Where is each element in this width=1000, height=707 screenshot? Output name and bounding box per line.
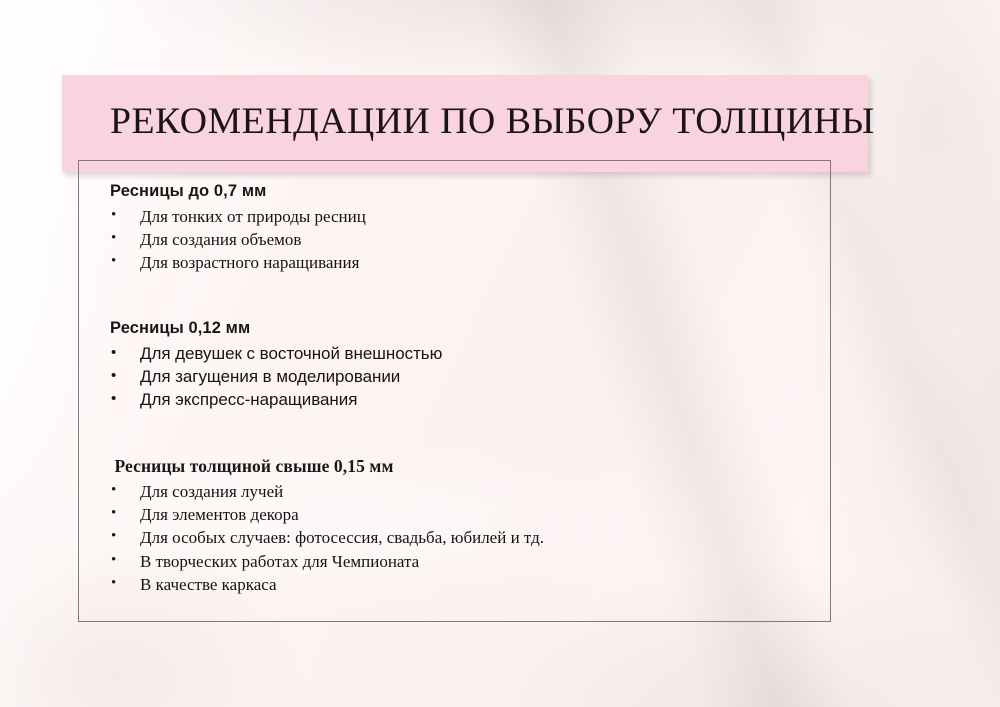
list-item: Для создания объемов (78, 228, 831, 251)
list-item: Для создания лучей (78, 480, 831, 503)
section-lashes-over-015: Ресницы толщиной свыше 0,15 мм Для созда… (78, 455, 831, 596)
slide-title: РЕКОМЕНДАЦИИ ПО ВЫБОРУ ТОЛЩИНЫ (110, 99, 885, 145)
section-heading: Ресницы до 0,7 мм (78, 180, 831, 202)
list-item: Для экспресс-наращивания (78, 388, 831, 411)
list-item: Для загущения в моделировании (78, 365, 831, 388)
content-area: Ресницы до 0,7 мм Для тонких от природы … (78, 160, 831, 622)
list-item: Для особых случаев: фотосессия, свадьба,… (78, 526, 831, 549)
list-item: В качестве каркаса (78, 573, 831, 596)
section-heading: Ресницы 0,12 мм (78, 317, 831, 339)
bullet-list: Для создания лучей Для элементов декора … (78, 480, 831, 596)
bullet-list: Для тонких от природы ресниц Для создани… (78, 205, 831, 275)
section-heading: Ресницы толщиной свыше 0,15 мм (78, 455, 831, 477)
section-lashes-012: Ресницы 0,12 мм Для девушек с восточной … (78, 317, 831, 412)
list-item: Для элементов декора (78, 503, 831, 526)
list-item: Для тонких от природы ресниц (78, 205, 831, 228)
list-item: Для девушек с восточной внешностью (78, 342, 831, 365)
list-item: В творческих работах для Чемпионата (78, 550, 831, 573)
section-lashes-up-to-07: Ресницы до 0,7 мм Для тонких от природы … (78, 180, 831, 275)
presentation-slide: РЕКОМЕНДАЦИИ ПО ВЫБОРУ ТОЛЩИНЫ Ресницы д… (0, 0, 1000, 707)
bullet-list: Для девушек с восточной внешностью Для з… (78, 342, 831, 412)
list-item: Для возрастного наращивания (78, 251, 831, 274)
